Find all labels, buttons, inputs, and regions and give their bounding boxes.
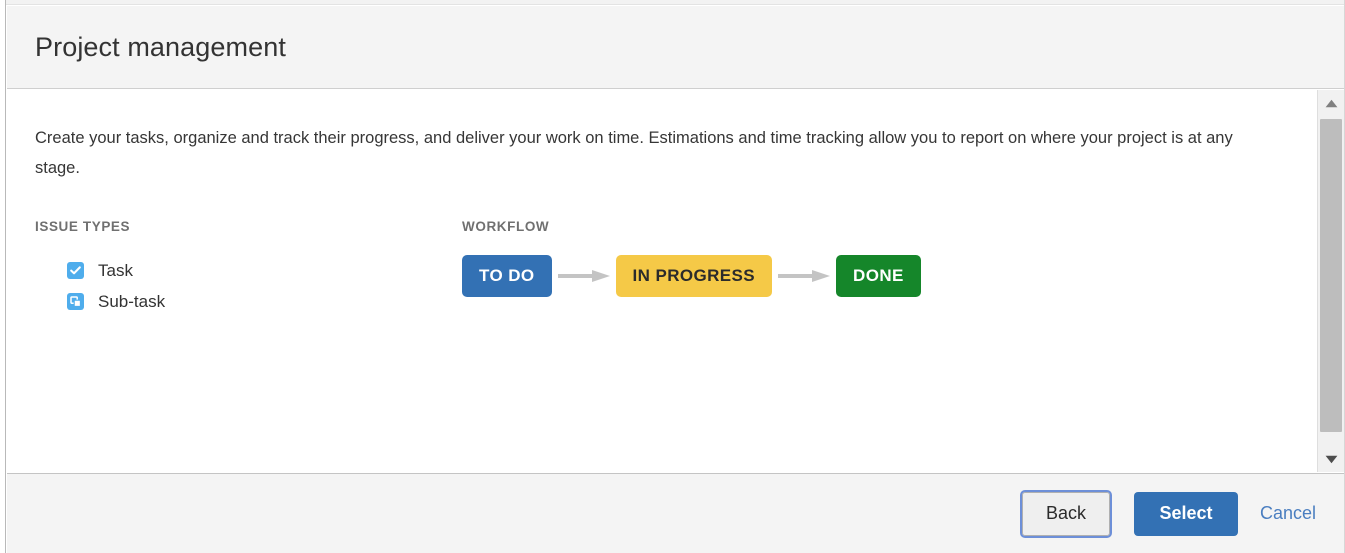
workflow-arrow-2 [778, 269, 830, 283]
description-text: Create your tasks, organize and track th… [35, 123, 1267, 183]
issue-type-label: Sub-task [98, 292, 165, 312]
issue-type-label: Task [98, 261, 133, 281]
scrollbar-track[interactable] [1318, 116, 1344, 446]
scroll-down-icon[interactable] [1318, 446, 1344, 472]
sub-task-squares-icon [67, 293, 84, 310]
content-scrollbar[interactable] [1317, 90, 1344, 472]
page-title: Project management [35, 32, 286, 63]
cancel-link[interactable]: Cancel [1260, 503, 1316, 524]
workflow-diagram: TO DO IN PROGRESS DONE [462, 255, 1282, 297]
dialog-content: Create your tasks, organize and track th… [7, 90, 1317, 472]
workflow-section: WORKFLOW TO DO IN PROGRESS DONE [462, 219, 1282, 297]
issue-types-section: ISSUE TYPES Task [35, 219, 435, 317]
scrollbar-thumb[interactable] [1320, 119, 1342, 432]
window-left-edge [0, 0, 6, 553]
workflow-arrow-1 [558, 269, 610, 283]
scroll-up-icon[interactable] [1318, 90, 1344, 116]
project-type-dialog: Project management Create your tasks, or… [0, 0, 1345, 553]
issue-type-sub-task[interactable]: Sub-task [35, 286, 435, 317]
issue-types-heading: ISSUE TYPES [35, 219, 435, 234]
issue-types-list: Task Sub-task [35, 255, 435, 317]
dialog-header: Project management [7, 6, 1344, 89]
workflow-status-done: DONE [836, 255, 921, 297]
issue-type-task[interactable]: Task [35, 255, 435, 286]
back-button[interactable]: Back [1022, 492, 1110, 536]
window-top-edge [0, 0, 1345, 5]
workflow-status-to-do: TO DO [462, 255, 552, 297]
workflow-heading: WORKFLOW [462, 219, 1282, 234]
workflow-status-in-progress: IN PROGRESS [616, 255, 772, 297]
task-check-icon [67, 262, 84, 279]
dialog-footer: Back Select Cancel [7, 473, 1344, 553]
select-button[interactable]: Select [1134, 492, 1238, 536]
